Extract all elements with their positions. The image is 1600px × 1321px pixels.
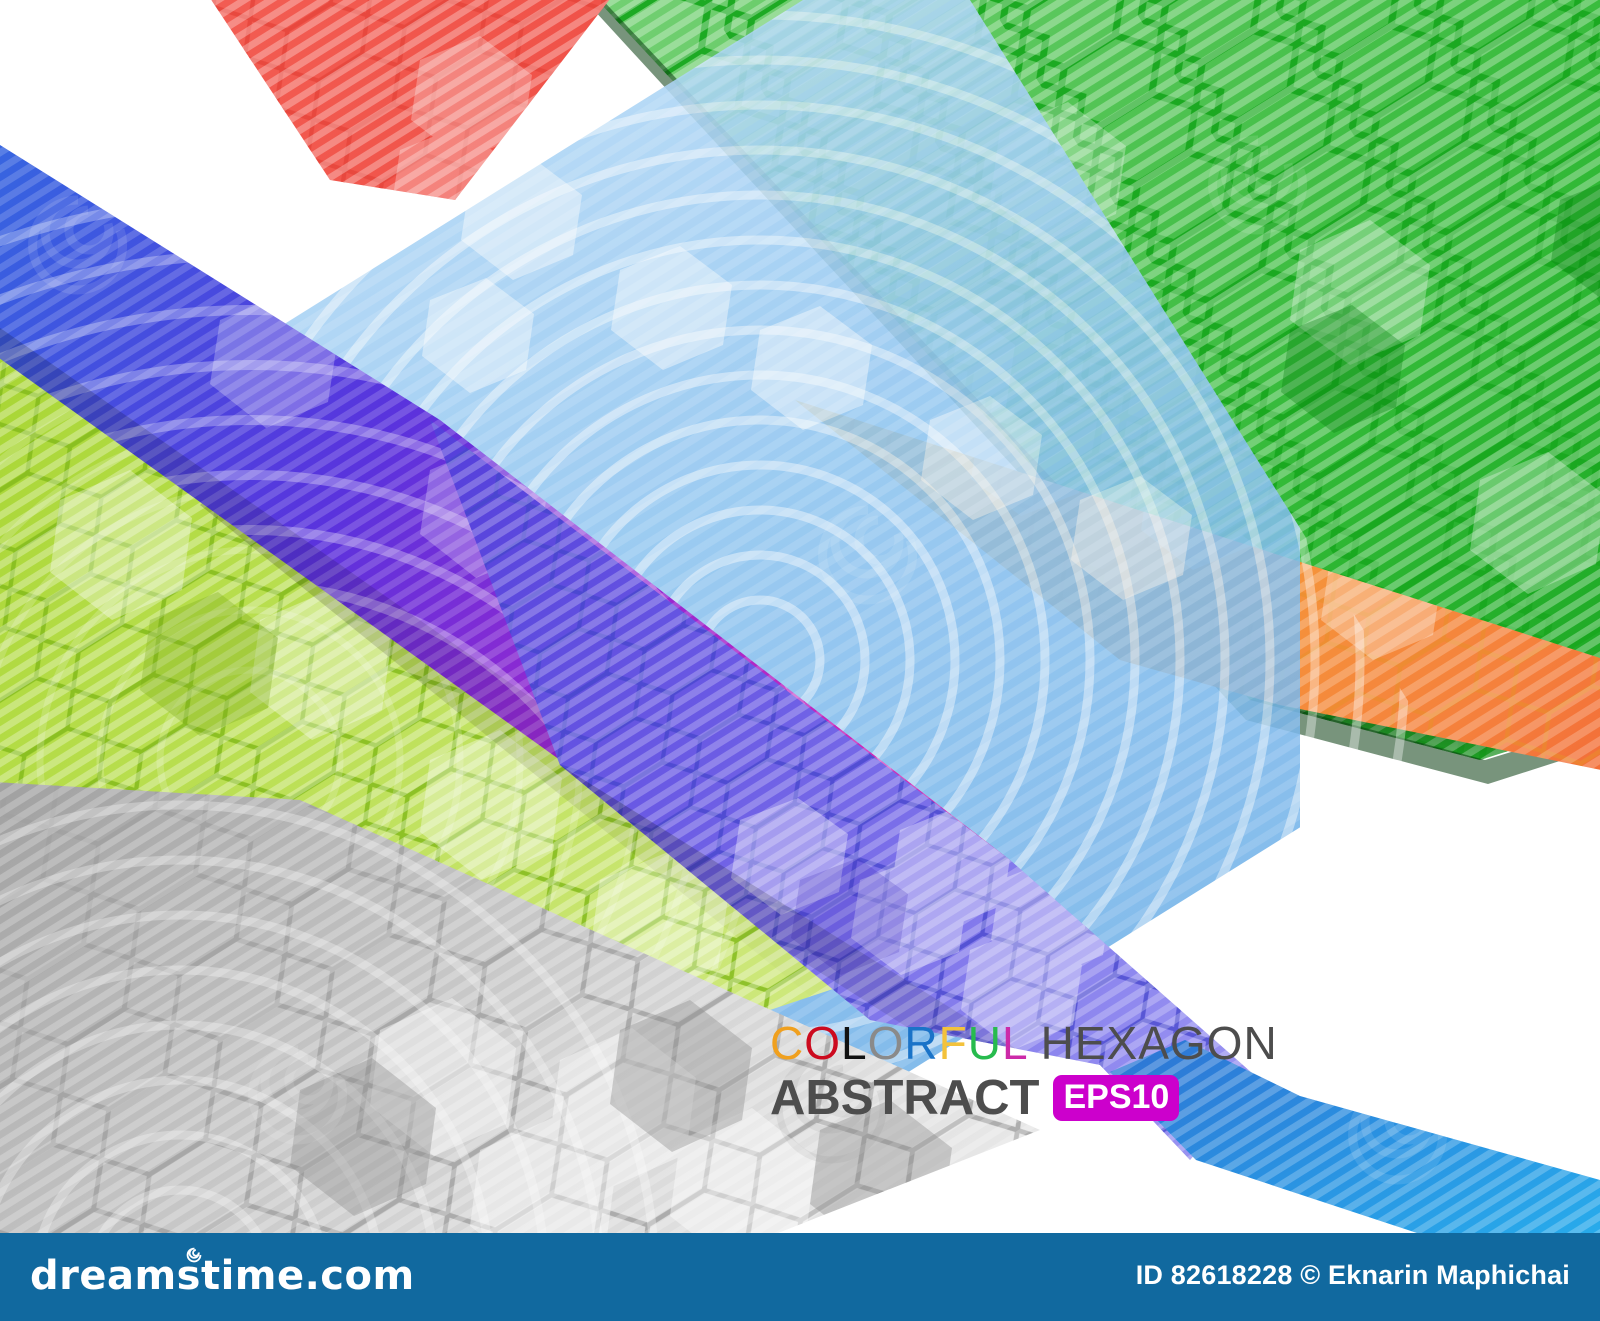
dreamstime-spiral-icon: [183, 1244, 205, 1266]
image-credit: ID 82618228 © Eknarin Maphichai: [1136, 1260, 1570, 1291]
artwork-canvas: COLORFUL HEXAGON ABSTRACTEPS10 dreamstim…: [0, 0, 1600, 1321]
dreamstime-footer-bar: dreamstime.com ID 82618228 © Eknarin Map…: [0, 1233, 1600, 1321]
dreamstime-logo[interactable]: dreamstime.com: [30, 1253, 415, 1299]
abstract-hexagon-illustration: [0, 0, 1600, 1321]
